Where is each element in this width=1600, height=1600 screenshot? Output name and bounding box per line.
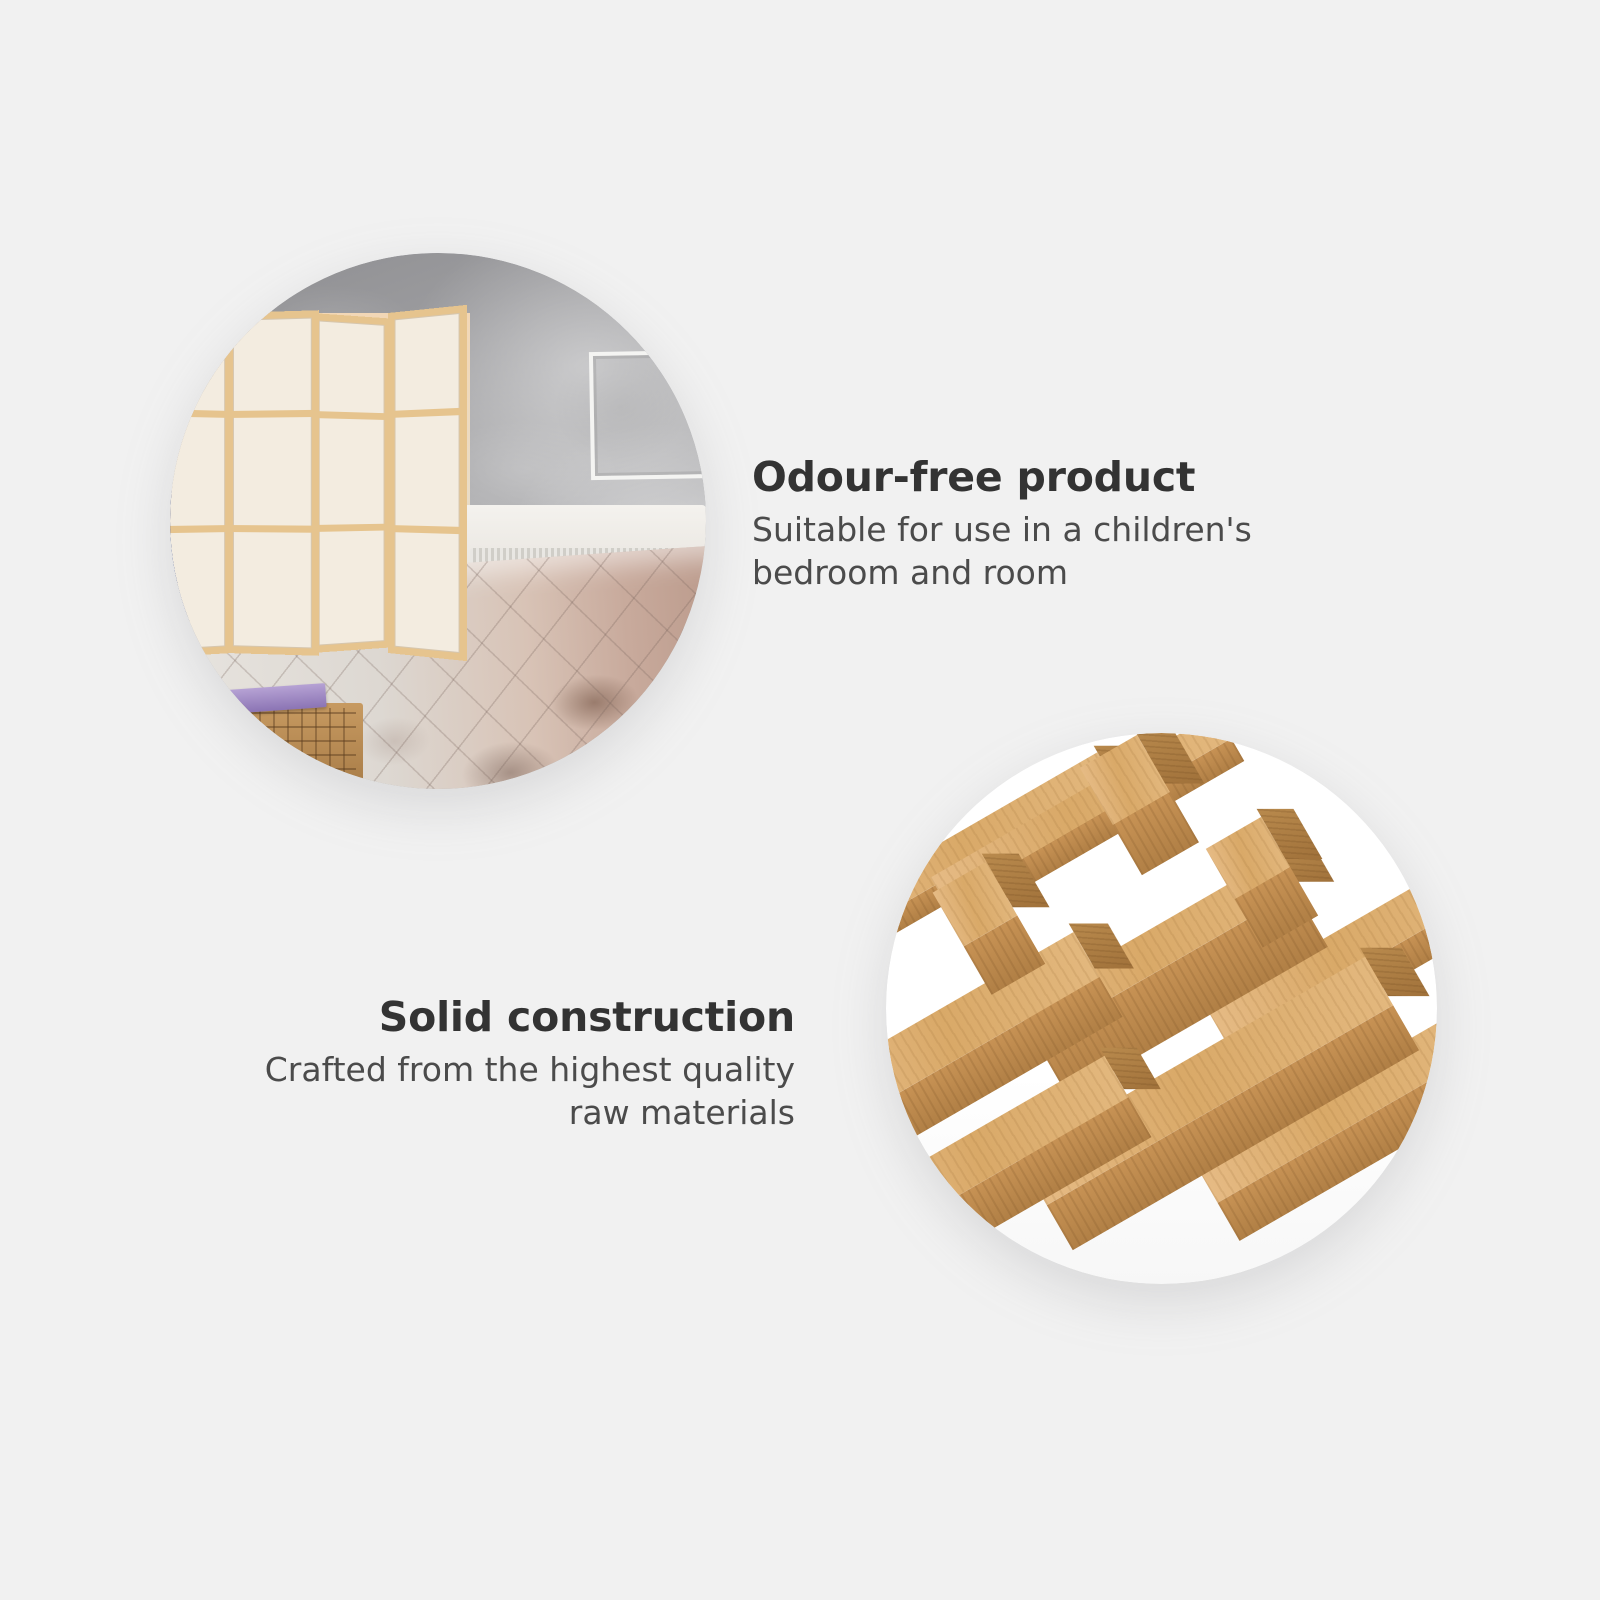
wicker-storage-chest [224, 703, 363, 789]
feature-solid-construction-title: Solid construction [255, 992, 795, 1042]
wall-picture-frame [589, 350, 706, 480]
folding-room-divider [170, 313, 470, 653]
panel-rail [170, 409, 232, 418]
feature-odour-free-description-line-1: Suitable for use in a children's [752, 508, 1272, 551]
divider-panel-1 [170, 307, 232, 658]
stacked-wood-scene [886, 733, 1437, 1284]
divider-panel-4 [388, 305, 467, 661]
infographic-canvas: Odour-free product Suitable for use in a… [0, 0, 1600, 1600]
panel-rail [312, 411, 391, 420]
panel-rail [388, 525, 467, 534]
feature-odour-free-description-line-2: bedroom and room [752, 551, 1272, 594]
bedroom-photo-medallion [170, 253, 706, 789]
panel-rail [226, 525, 319, 533]
bedroom-photo-clip [170, 253, 706, 789]
feature-solid-construction-description-line-1: Crafted from the highest quality [255, 1048, 795, 1091]
divider-panel-2 [226, 310, 319, 656]
wood-block [1206, 817, 1290, 899]
bedroom-scene [170, 253, 706, 789]
panel-rail [388, 408, 467, 418]
feature-solid-construction: Solid construction Crafted from the high… [255, 992, 795, 1134]
feature-odour-free: Odour-free product Suitable for use in a… [752, 452, 1272, 594]
divider-panel-3 [312, 313, 391, 653]
chest-weave-texture [231, 708, 356, 783]
panel-rail [170, 525, 232, 534]
feature-odour-free-title: Odour-free product [752, 452, 1272, 502]
panel-rail [226, 410, 319, 418]
feature-solid-construction-description-line-2: raw materials [255, 1091, 795, 1134]
wood-photo-medallion [886, 733, 1437, 1284]
wood-photo-clip [886, 733, 1437, 1284]
panel-rail [312, 524, 391, 532]
